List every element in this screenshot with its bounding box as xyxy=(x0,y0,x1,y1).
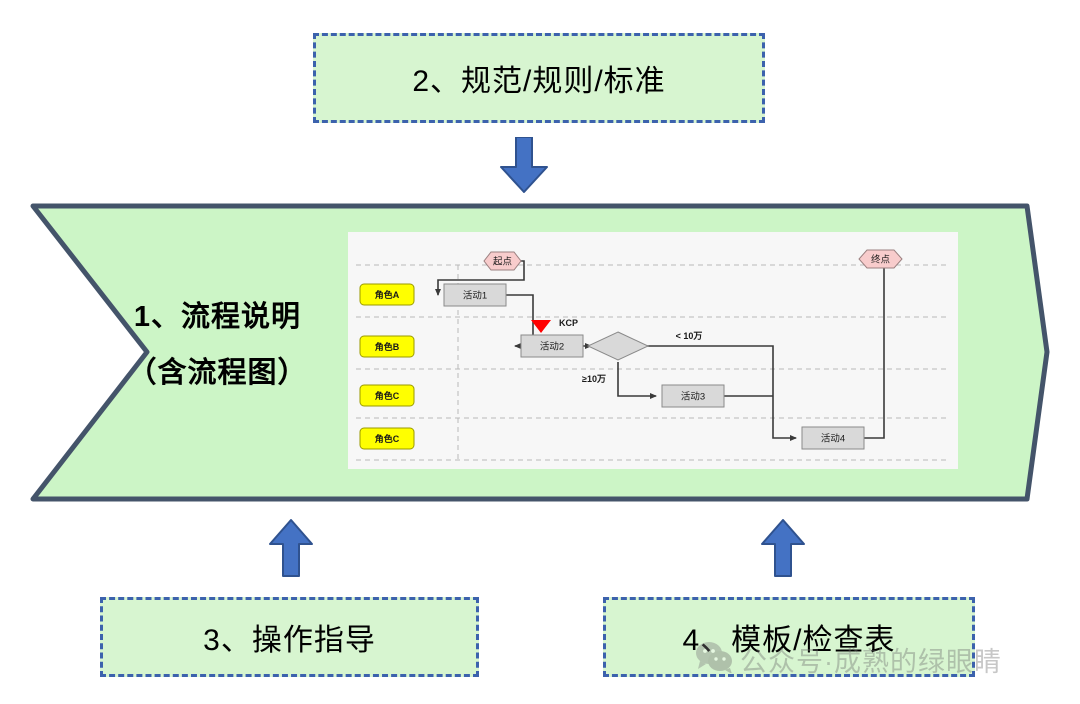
activity-node-1: 活动1 xyxy=(444,284,506,306)
lane-label-group: 角色A 角色B 角色C 角色C xyxy=(360,284,414,449)
arrow-template-to-process xyxy=(759,518,807,583)
lane-label-3: 角色C xyxy=(360,385,414,406)
process-title-main: 1、流程说明 xyxy=(100,303,335,332)
operation-guide-box[interactable]: 3、操作指导 xyxy=(100,597,479,677)
flow-end-label: 终点 xyxy=(871,254,891,266)
flowchart-image[interactable]: 起点 终点 角色A 角色B 角色C 角色C xyxy=(348,232,958,469)
branch-label-less: < 10万 xyxy=(676,331,703,341)
arrow-standards-to-process xyxy=(497,137,551,200)
svg-text:活动3: 活动3 xyxy=(681,391,705,403)
activity-node-3: 活动3 xyxy=(662,385,724,407)
process-title-sub: （含流程图） xyxy=(100,359,335,388)
lane-label-4: 角色C xyxy=(360,428,414,449)
decision-node xyxy=(588,332,648,360)
svg-text:活动1: 活动1 xyxy=(463,290,487,302)
template-checklist-box-label: 4、模板/检查表 xyxy=(682,615,895,659)
flow-start-node: 起点 xyxy=(484,252,521,270)
template-checklist-box[interactable]: 4、模板/检查表 xyxy=(603,597,975,677)
svg-text:角色C: 角色C xyxy=(375,433,400,444)
kcp-marker: KCP xyxy=(531,318,578,333)
svg-text:角色B: 角色B xyxy=(375,341,400,352)
svg-text:活动2: 活动2 xyxy=(540,341,564,353)
activity-node-2: 活动2 xyxy=(521,335,583,357)
flow-start-label: 起点 xyxy=(493,257,513,268)
kcp-label: KCP xyxy=(559,318,578,328)
flow-end-node: 终点 xyxy=(859,250,902,268)
process-title: 1、流程说明 （含流程图） xyxy=(100,303,335,388)
arrow-operation-to-process xyxy=(267,518,315,583)
lane-label-2: 角色B xyxy=(360,336,414,357)
standards-box[interactable]: 2、规范/规则/标准 xyxy=(313,33,765,123)
svg-text:活动4: 活动4 xyxy=(821,433,845,445)
standards-box-label: 2、规范/规则/标准 xyxy=(412,56,665,100)
activity-node-4: 活动4 xyxy=(802,427,864,449)
operation-guide-box-label: 3、操作指导 xyxy=(203,615,376,659)
svg-text:角色A: 角色A xyxy=(375,289,400,300)
lane-label-1: 角色A xyxy=(360,284,414,305)
svg-text:角色C: 角色C xyxy=(375,390,400,401)
branch-label-greater: ≥10万 xyxy=(582,374,606,384)
